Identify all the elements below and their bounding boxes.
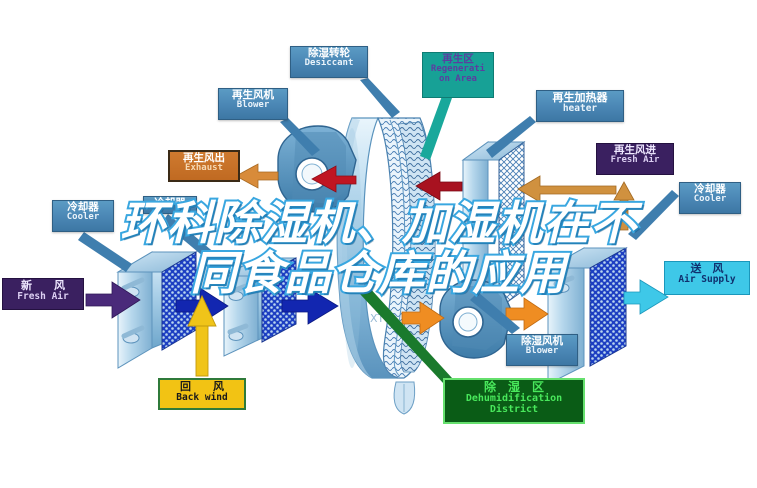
callout-cooler-right: 冷却器Cooler bbox=[679, 182, 741, 214]
callout-desiccant-rotor-en: Desiccant bbox=[293, 59, 365, 69]
arrow-supply bbox=[624, 280, 668, 314]
callout-cooler-left-en: Cooler bbox=[55, 213, 111, 223]
callout-cooler-left-small: 冷却器 bbox=[143, 196, 197, 214]
callout-regen-blower: 再生风机Blower bbox=[218, 88, 288, 120]
callout-air-supply-en: Air Supply bbox=[667, 275, 747, 285]
regen-fan bbox=[278, 126, 356, 212]
arrow-regen-riser bbox=[614, 182, 634, 230]
callout-back-wind: 回 风Back wind bbox=[158, 378, 246, 410]
callout-regen-heater: 再生加热器heater bbox=[536, 90, 624, 122]
callout-regen-fresh-air: 再生风进Fresh Air bbox=[596, 143, 674, 175]
callout-air-supply: 送 风Air Supply bbox=[664, 261, 750, 295]
callout-regeneration-area-en-2: on Area bbox=[425, 75, 491, 85]
callout-regeneration-area: 再生区Regeneration Area bbox=[422, 52, 494, 98]
callout-dehumidification-district-cn: 除 湿 区 bbox=[447, 381, 581, 394]
callout-back-wind-en: Back wind bbox=[162, 393, 242, 403]
callout-dehumid-blower-en: Blower bbox=[509, 347, 575, 357]
callout-fresh-air-inlet-en: Fresh Air bbox=[5, 292, 81, 302]
arrow-exhaust bbox=[236, 164, 278, 188]
callout-cooler-right-en: Cooler bbox=[682, 195, 738, 205]
callout-regen-heater-en: heater bbox=[539, 104, 621, 114]
callout-dehumidification-district: 除 湿 区DehumidificationDistrict bbox=[443, 378, 585, 424]
arrow-regen-intake bbox=[518, 176, 616, 202]
diagram-canvas: XT bbox=[0, 0, 757, 488]
callout-dehumidification-district-en-2: District bbox=[447, 405, 581, 416]
dehumidifier-schematic-art: XT bbox=[0, 0, 757, 488]
callout-cooler-left: 冷却器Cooler bbox=[52, 200, 114, 232]
callout-regen-fresh-air-en: Fresh Air bbox=[599, 156, 671, 166]
callout-regen-exhaust-en: Exhaust bbox=[172, 164, 236, 174]
callout-dehumid-blower: 除湿风机Blower bbox=[506, 334, 578, 366]
callout-cooler-left-small-cn: 冷却器 bbox=[146, 198, 194, 209]
callout-fresh-air-inlet: 新 风Fresh Air bbox=[2, 278, 84, 310]
callout-regen-exhaust: 再生风出Exhaust bbox=[168, 150, 240, 182]
callout-desiccant-rotor: 除湿转轮Desiccant bbox=[290, 46, 368, 78]
callout-regen-blower-en: Blower bbox=[221, 101, 285, 111]
